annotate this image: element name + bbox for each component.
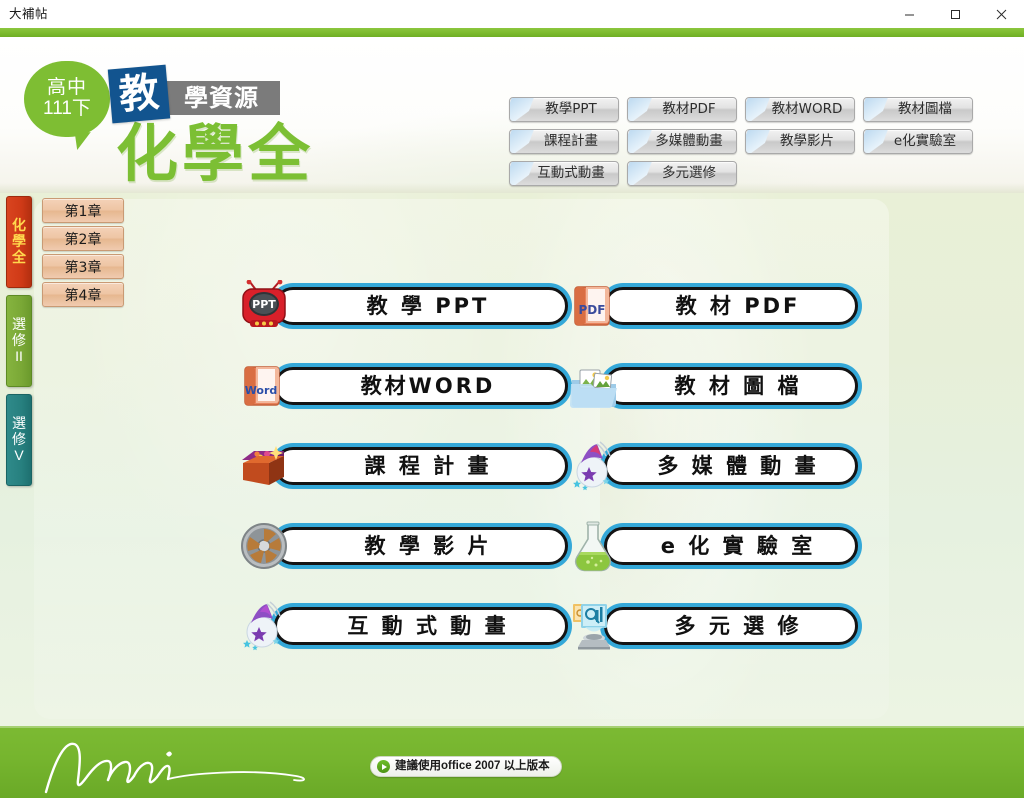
play-icon <box>377 760 390 773</box>
nav-button-label: 多元選修 <box>648 167 716 181</box>
sidebar-tab-elective-2[interactable]: 選 修 II <box>6 295 32 387</box>
menu-item-course-plan[interactable]: 課 程 計 畫 <box>238 443 568 489</box>
svg-text:PPT: PPT <box>252 298 276 311</box>
nav-button-interactive-animation[interactable]: 互動式動畫 <box>509 161 619 186</box>
menu-item-label: 教材WORD <box>347 376 496 397</box>
nav-button-label: 課程計畫 <box>530 135 598 149</box>
nav-button-teaching-video[interactable]: 教學影片 <box>745 129 855 154</box>
sidebar-tab-label: 選 <box>12 317 26 333</box>
sidebar-tab-label: II <box>15 349 23 365</box>
nav-button-label: 多媒體動畫 <box>641 135 723 149</box>
nav-button-teaching-ppt[interactable]: 教學PPT <box>509 97 619 122</box>
word-book-icon: Word <box>238 360 290 412</box>
nav-button-label: 教學PPT <box>531 103 597 117</box>
nav-button-material-pdf[interactable]: 教材PDF <box>627 97 737 122</box>
chapter-list: 第1章 第2章 第3章 第4章 <box>42 198 124 310</box>
nan-i-logo <box>28 734 328 796</box>
resource-menu: PPT 教 學 PPT <box>238 283 858 649</box>
pdf-book-icon: PDF <box>568 280 620 332</box>
chapter-button-2[interactable]: 第2章 <box>42 226 124 251</box>
title-bar: 大補帖 <box>0 0 1024 28</box>
menu-pill[interactable]: 教 材 圖 檔 <box>604 367 858 405</box>
menu-item-multimedia-animation[interactable]: 多 媒 體 動 畫 <box>568 443 858 489</box>
close-button[interactable] <box>978 0 1024 28</box>
menu-item-label: 互 動 式 動 畫 <box>333 616 508 637</box>
menu-item-label: 教 學 影 片 <box>351 536 492 557</box>
menu-pill[interactable]: 教 學 PPT <box>274 287 568 325</box>
menu-item-material-images[interactable]: 教 材 圖 檔 <box>568 363 858 409</box>
window-title: 大補帖 <box>9 8 48 21</box>
menu-item-label: 教 材 圖 檔 <box>661 376 802 397</box>
image-folder-icon <box>568 360 620 412</box>
nav-button-multimedia-animation[interactable]: 多媒體動畫 <box>627 129 737 154</box>
top-nav: 教學PPT 教材PDF 教材WORD 教材圖檔 課程計畫 多媒體動畫 <box>509 97 1001 186</box>
sidebar-tab-label: 修 <box>12 333 26 349</box>
green-accent-rule <box>0 28 1024 37</box>
nav-button-label: 教材WORD <box>758 103 843 117</box>
menu-pill[interactable]: 教 學 影 片 <box>274 527 568 565</box>
nav-button-label: 互動式動畫 <box>523 167 605 181</box>
sidebar-tab-label: 學 <box>12 234 26 250</box>
grade-badge: 高中 111下 <box>24 61 110 137</box>
nav-button-label: e化實驗室 <box>880 135 956 149</box>
menu-item-label: 多 媒 體 動 畫 <box>643 456 818 477</box>
grade-badge-line2: 111下 <box>43 99 91 120</box>
menu-pill[interactable]: 課 程 計 畫 <box>274 447 568 485</box>
brand-logo-char: 教 <box>108 65 170 124</box>
brand-logo-rest: 學資源 <box>163 81 280 115</box>
ppt-tv-icon: PPT <box>238 280 290 332</box>
brand-logo-char-text: 教 <box>117 72 160 115</box>
menu-item-label: 教 材 PDF <box>662 296 801 317</box>
nav-button-course-plan[interactable]: 課程計畫 <box>509 129 619 154</box>
flask-icon <box>568 520 620 572</box>
film-reel-icon <box>238 520 290 572</box>
magic-hat-icon <box>238 600 290 652</box>
menu-item-label: 教 學 PPT <box>353 296 490 317</box>
office-version-note-text: 建議使用office 2007 以上版本 <box>395 761 550 773</box>
menu-item-label: 課 程 計 畫 <box>351 456 492 477</box>
sidebar-tab-label: 選 <box>12 416 26 432</box>
main-content: 化 學 全 選 修 II 選 修 V 第1章 第2章 第3章 第4章 <box>0 193 1024 726</box>
minimize-button[interactable] <box>886 0 932 28</box>
sidebar-tab-elective-5[interactable]: 選 修 V <box>6 394 32 486</box>
menu-pill[interactable]: 教 材 PDF <box>604 287 858 325</box>
page-header: 高中 111下 教 學資源 化學全 教學PPT 教材PDF 教材WORD <box>0 37 1024 193</box>
nav-button-material-images[interactable]: 教材圖檔 <box>863 97 973 122</box>
svg-text:Word: Word <box>245 384 278 397</box>
menu-item-material-pdf[interactable]: PDF 教 材 PDF <box>568 283 858 329</box>
magic-hat-icon <box>568 440 620 492</box>
menu-pill[interactable]: 教材WORD <box>274 367 568 405</box>
nav-button-elab[interactable]: e化實驗室 <box>863 129 973 154</box>
sidebar-tab-label: 修 <box>12 432 26 448</box>
svg-text:PDF: PDF <box>579 303 606 317</box>
chapter-button-4[interactable]: 第4章 <box>42 282 124 307</box>
sidebar-tab-label: V <box>14 448 23 464</box>
monitor-chart-icon <box>568 600 620 652</box>
menu-pill[interactable]: 多 媒 體 動 畫 <box>604 447 858 485</box>
menu-item-label: e 化 實 驗 室 <box>647 536 816 557</box>
nav-button-material-word[interactable]: 教材WORD <box>745 97 855 122</box>
menu-item-teaching-ppt[interactable]: PPT 教 學 PPT <box>238 283 568 329</box>
menu-item-teaching-video[interactable]: 教 學 影 片 <box>238 523 568 569</box>
menu-item-label: 多 元 選 修 <box>661 616 802 637</box>
menu-item-material-word[interactable]: Word 教材WORD <box>238 363 568 409</box>
grade-badge-line1: 高中 <box>47 78 87 99</box>
nav-button-label: 教材圖檔 <box>884 103 952 117</box>
nav-button-multi-elective[interactable]: 多元選修 <box>627 161 737 186</box>
menu-item-multi-elective[interactable]: 多 元 選 修 <box>568 603 858 649</box>
menu-pill[interactable]: 多 元 選 修 <box>604 607 858 645</box>
menu-item-elab[interactable]: e 化 實 驗 室 <box>568 523 858 569</box>
office-version-note: 建議使用office 2007 以上版本 <box>370 756 562 777</box>
page-title: 化學全 <box>116 123 314 185</box>
sidebar-tab-label: 化 <box>12 218 26 234</box>
menu-pill[interactable]: e 化 實 驗 室 <box>604 527 858 565</box>
chapter-button-3[interactable]: 第3章 <box>42 254 124 279</box>
sidebar-tab-chemistry[interactable]: 化 學 全 <box>6 196 32 288</box>
maximize-button[interactable] <box>932 0 978 28</box>
brand-logo-rest-text: 學資源 <box>184 86 259 110</box>
application-window: 大補帖 高中 111下 教 學資源 化學全 <box>0 0 1024 798</box>
treasure-box-icon <box>238 440 290 492</box>
menu-pill[interactable]: 互 動 式 動 畫 <box>274 607 568 645</box>
nav-button-label: 教材PDF <box>648 103 715 117</box>
nav-button-label: 教學影片 <box>766 135 834 149</box>
sidebar-tab-label: 全 <box>12 250 26 266</box>
menu-item-interactive-animation[interactable]: 互 動 式 動 畫 <box>238 603 568 649</box>
window-controls <box>886 0 1024 28</box>
chapter-button-1[interactable]: 第1章 <box>42 198 124 223</box>
